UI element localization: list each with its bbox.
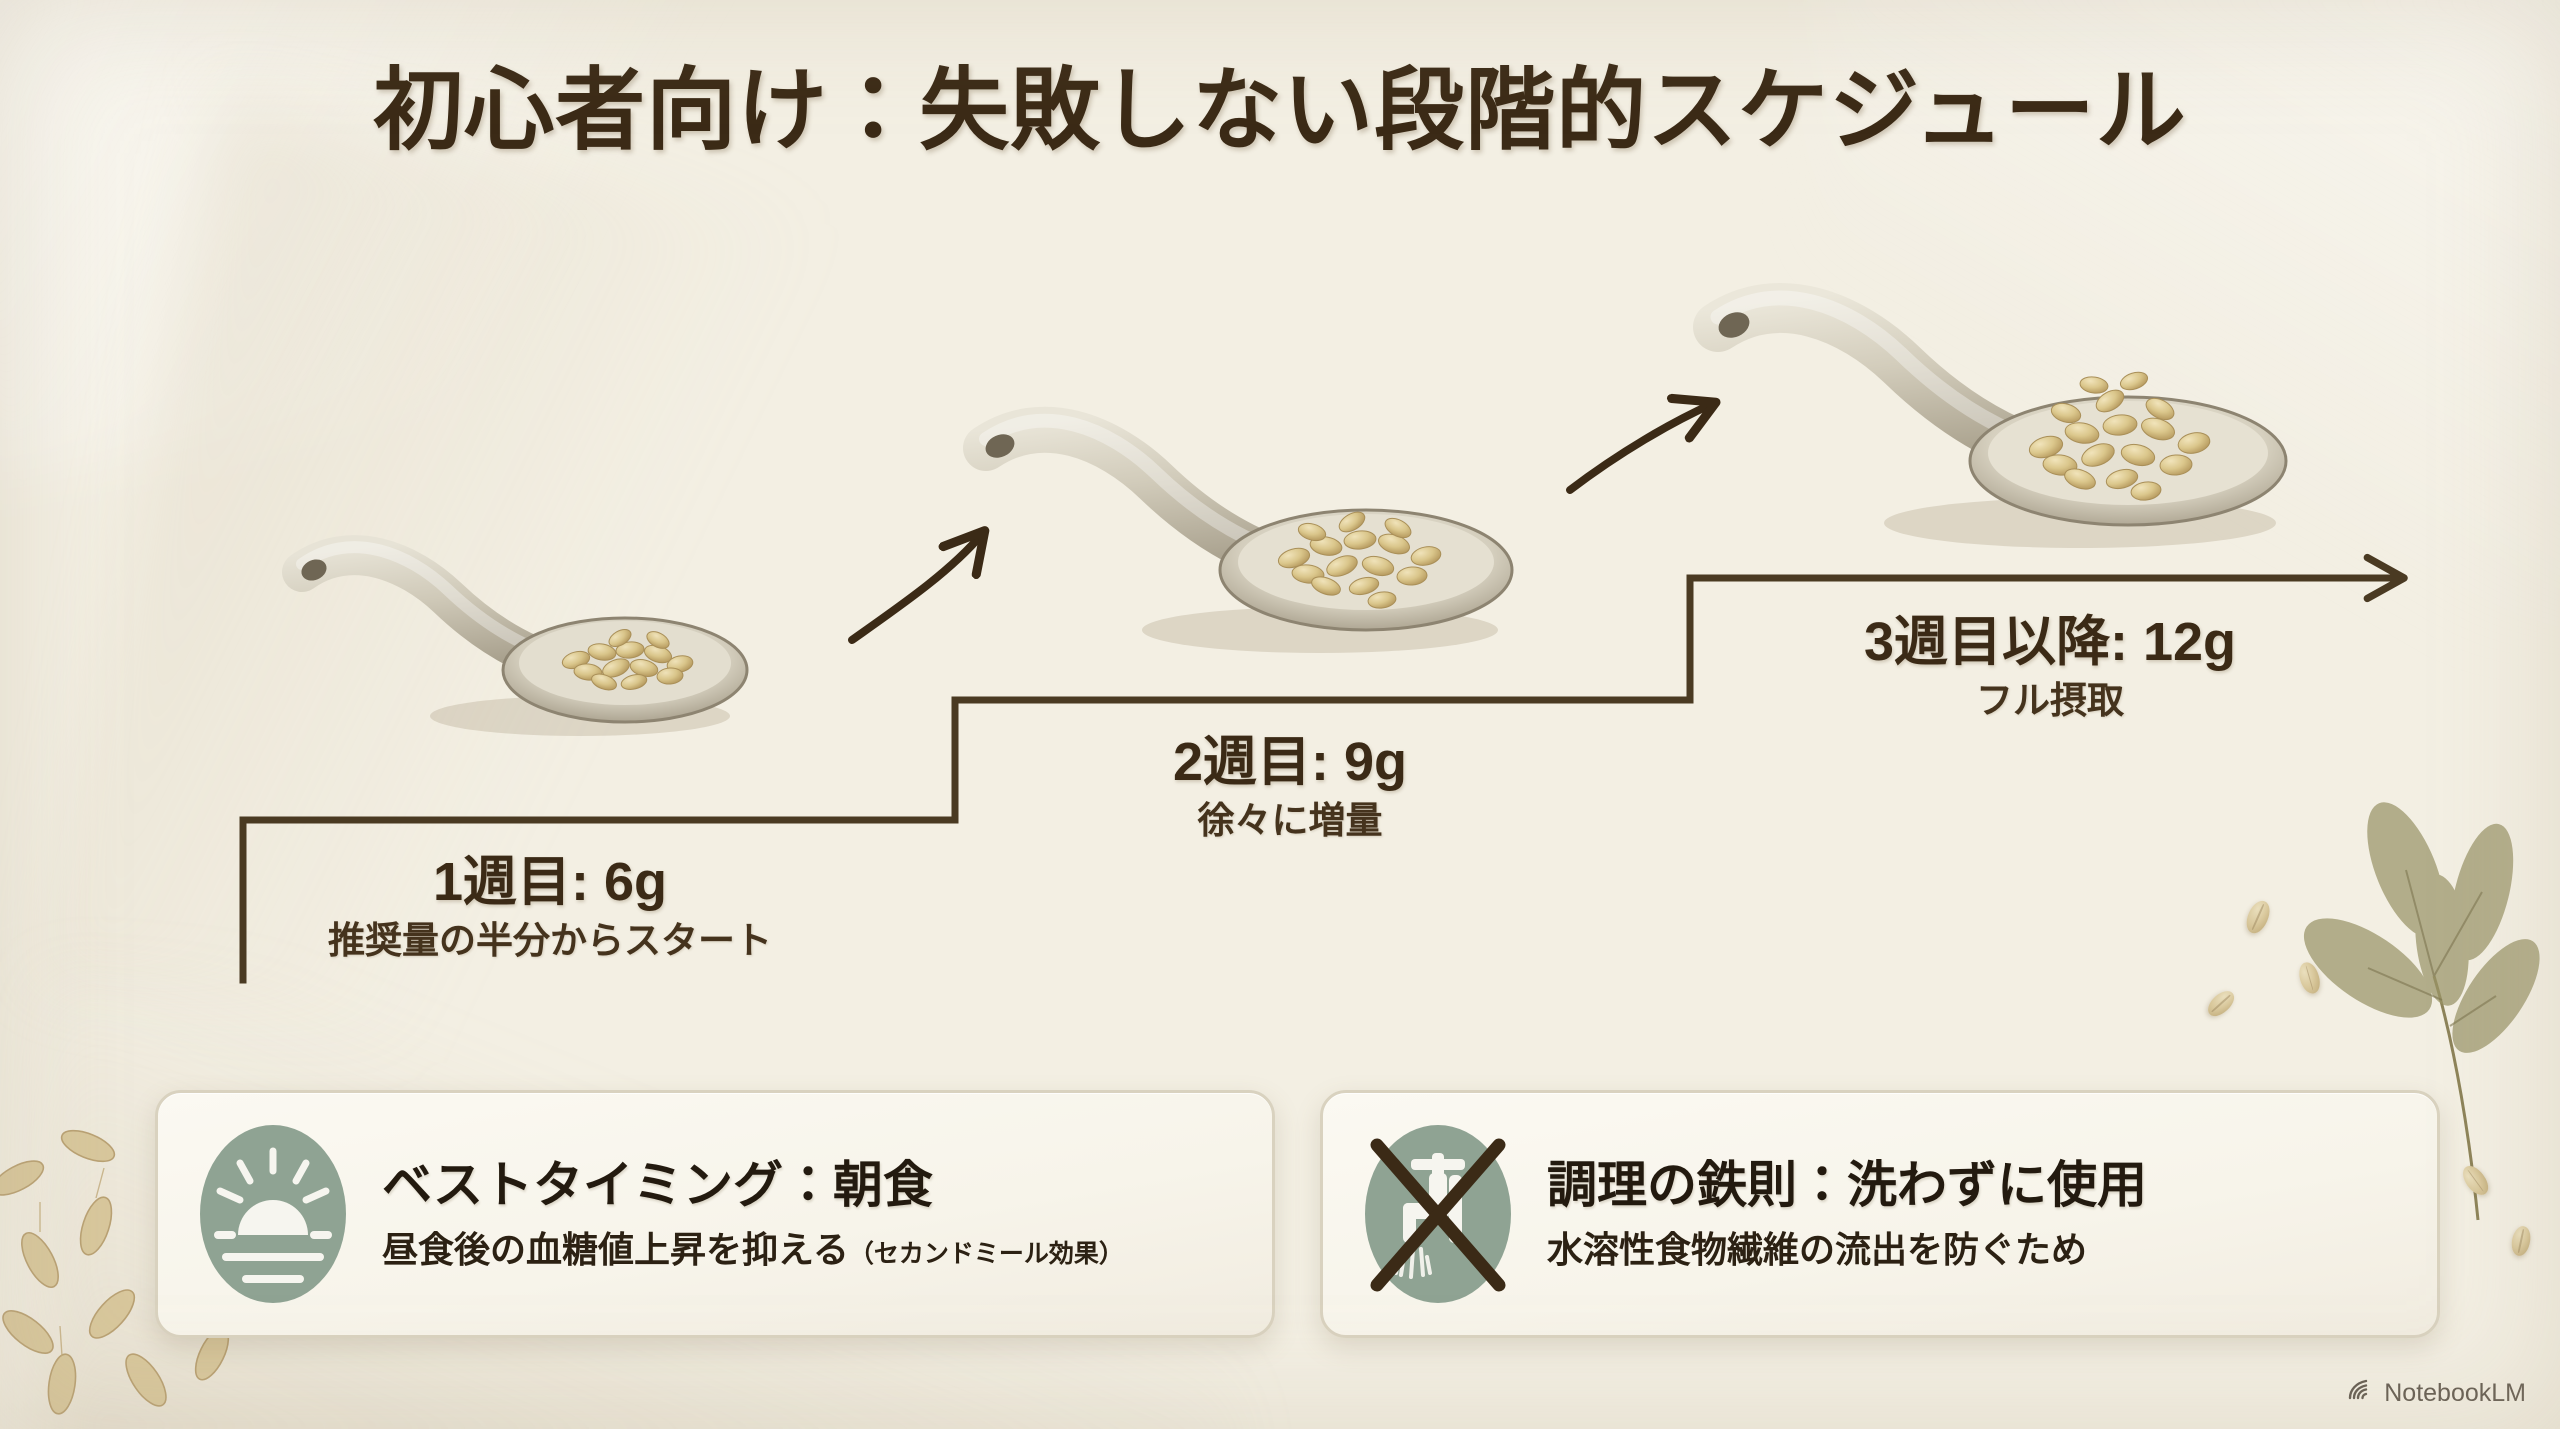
step-label-3: 3週目以降: 12g フル摂取 [1690,612,2410,725]
step-1-subtitle: 推奨量の半分からスタート [200,918,900,964]
sunrise-icon [198,1123,348,1305]
notebooklm-watermark: NotebookLM [2346,1378,2526,1409]
notebooklm-wave-icon [2346,1378,2374,1409]
tip-card-cooking-title: 調理の鉄則：洗わずに使用 [1547,1157,2397,1215]
step-diagram: 1週目: 6g 推奨量の半分からスタート 2週目: 9g 徐々に増量 3週目以降… [0,0,2560,1060]
spoon-step-1 [280,520,800,750]
tip-card-cooking[interactable]: 調理の鉄則：洗わずに使用 水溶性食物繊維の流出を防ぐため [1320,1090,2440,1338]
infographic-canvas: 初心者向け：失敗しない段階的スケジュール [0,0,2560,1429]
tip-card-timing-subtitle-note: （セカンドミール効果） [849,1240,1124,1268]
tip-card-cooking-body: 調理の鉄則：洗わずに使用 水溶性食物繊維の流出を防ぐため [1547,1157,2397,1272]
step-label-1: 1週目: 6g 推奨量の半分からスタート [200,852,900,965]
no-wash-faucet-icon [1363,1123,1513,1305]
notebooklm-label: NotebookLM [2384,1379,2526,1408]
step-2-subtitle: 徐々に増量 [940,798,1640,844]
step-2-title: 2週目: 9g [940,732,1640,792]
step-label-2: 2週目: 9g 徐々に増量 [940,732,1640,845]
step-3-title: 3週目以降: 12g [1690,612,2410,672]
tip-card-cooking-subtitle: 水溶性食物繊維の流出を防ぐため [1547,1228,2397,1271]
tips-card-row: ベストタイミング：朝食 昼食後の血糖値上昇を抑える（セカンドミール効果） [0,1090,2560,1350]
tip-card-timing-body: ベストタイミング：朝食 昼食後の血糖値上昇を抑える（セカンドミール効果） [382,1157,1232,1272]
tip-card-timing-subtitle: 昼食後の血糖値上昇を抑える（セカンドミール効果） [382,1228,1232,1271]
tip-card-timing-title: ベストタイミング：朝食 [382,1157,1232,1215]
spoon-step-2 [960,390,1560,670]
spoon-step-3 [1690,265,2330,565]
step-3-subtitle: フル摂取 [1690,678,2410,724]
step-1-title: 1週目: 6g [200,852,900,912]
tip-card-timing[interactable]: ベストタイミング：朝食 昼食後の血糖値上昇を抑える（セカンドミール効果） [155,1090,1275,1338]
tip-card-timing-subtitle-main: 昼食後の血糖値上昇を抑える [382,1229,849,1270]
